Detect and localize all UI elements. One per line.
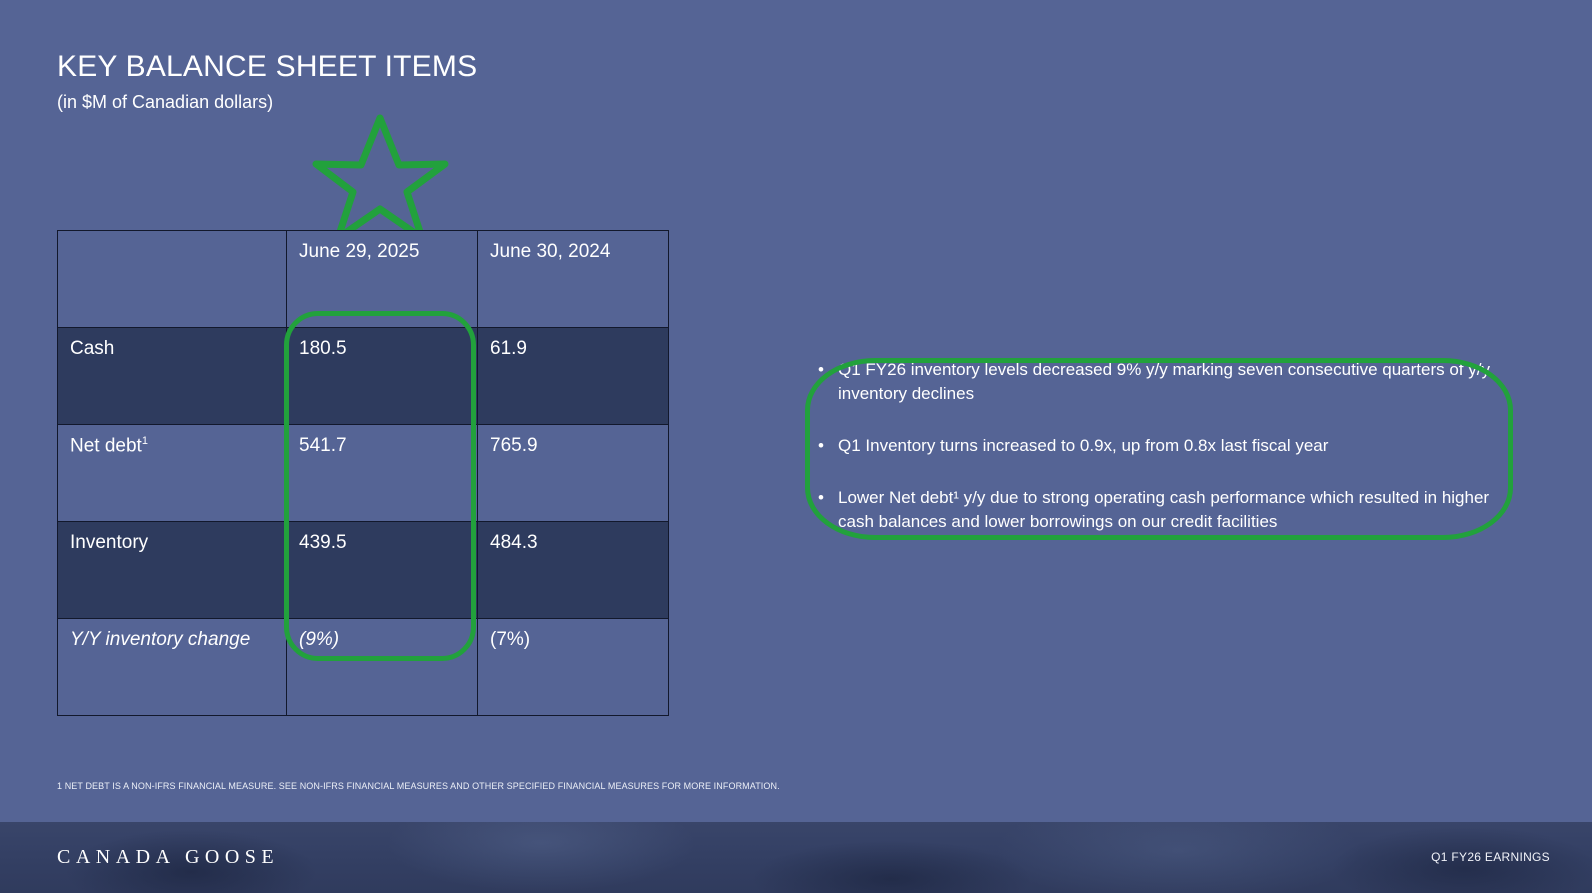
balance-sheet-table: June 29, 2025 June 30, 2024 Cash 180.5 6… <box>57 230 668 716</box>
table-row: Cash 180.5 61.9 <box>58 328 669 425</box>
table-row: Net debt1 541.7 765.9 <box>58 425 669 522</box>
cell-inventory-2025: 439.5 <box>287 522 478 619</box>
brand-logo: CANADA GOOSE <box>57 846 279 869</box>
bullet-icon: • <box>818 486 838 510</box>
table-row: Y/Y inventory change (9%) (7%) <box>58 619 669 716</box>
table-header-col1: June 29, 2025 <box>287 231 478 328</box>
table-header-row: June 29, 2025 June 30, 2024 <box>58 231 669 328</box>
row-label-inventory: Inventory <box>58 522 287 619</box>
bullet-text: Q1 FY26 inventory levels decreased 9% y/… <box>838 358 1508 406</box>
page-subtitle: (in $M of Canadian dollars) <box>57 92 273 113</box>
table-row: Inventory 439.5 484.3 <box>58 522 669 619</box>
footnote-text: 1 NET DEBT IS A NON-IFRS FINANCIAL MEASU… <box>57 781 780 791</box>
list-item: • Q1 Inventory turns increased to 0.9x, … <box>818 434 1508 458</box>
cell-cash-2024: 61.9 <box>478 328 669 425</box>
cell-net-debt-2025: 541.7 <box>287 425 478 522</box>
row-label-net-debt: Net debt1 <box>58 425 287 522</box>
row-label-yy-inventory-change: Y/Y inventory change <box>58 619 287 716</box>
bullet-text: Q1 Inventory turns increased to 0.9x, up… <box>838 434 1328 458</box>
slide-root: KEY BALANCE SHEET ITEMS (in $M of Canadi… <box>0 0 1592 893</box>
list-item: • Lower Net debt¹ y/y due to strong oper… <box>818 486 1508 534</box>
list-item: • Q1 FY26 inventory levels decreased 9% … <box>818 358 1508 406</box>
page-title: KEY BALANCE SHEET ITEMS <box>57 50 477 84</box>
commentary-bullet-list: • Q1 FY26 inventory levels decreased 9% … <box>818 358 1508 534</box>
table-header-blank <box>58 231 287 328</box>
footnote-marker: 1 <box>142 435 148 447</box>
row-label-cash: Cash <box>58 328 287 425</box>
cell-inventory-2024: 484.3 <box>478 522 669 619</box>
table-header-col2: June 30, 2024 <box>478 231 669 328</box>
bullet-icon: • <box>818 434 838 458</box>
slide-footer: CANADA GOOSE Q1 FY26 EARNINGS <box>0 822 1592 893</box>
footer-deck-label: Q1 FY26 EARNINGS <box>1431 850 1550 864</box>
cell-yy-change-2025: (9%) <box>287 619 478 716</box>
green-star-icon <box>312 112 452 230</box>
cell-net-debt-2024: 765.9 <box>478 425 669 522</box>
row-label-net-debt-text: Net debt <box>70 435 142 456</box>
cell-yy-change-2024: (7%) <box>478 619 669 716</box>
bullet-text: Lower Net debt¹ y/y due to strong operat… <box>838 486 1508 534</box>
cell-cash-2025: 180.5 <box>287 328 478 425</box>
bullet-icon: • <box>818 358 838 382</box>
